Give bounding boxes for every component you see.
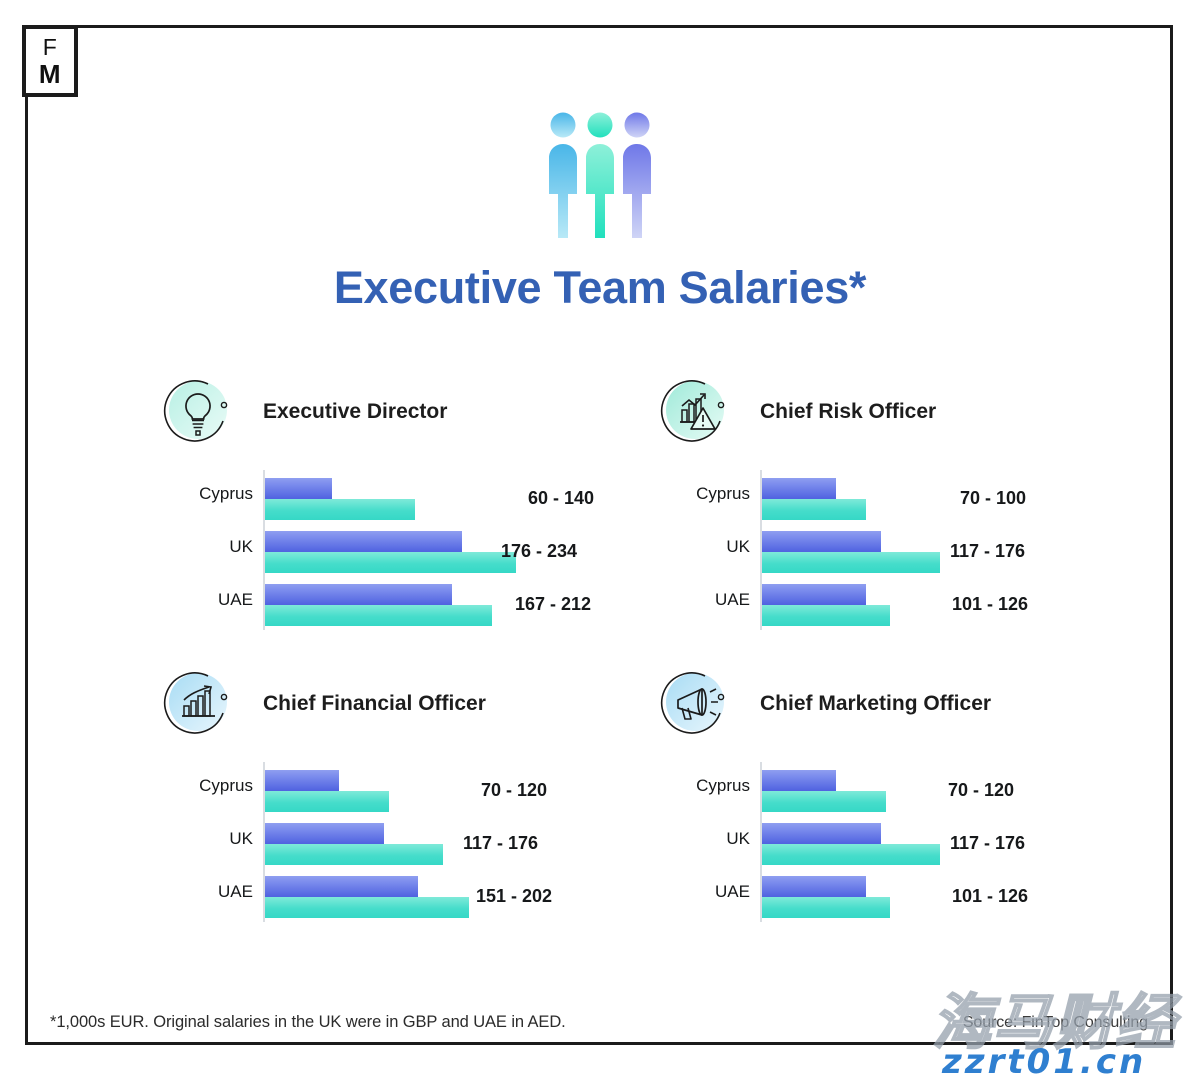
bar-chart: Cyprus 70 - 120 UK 117 - 176 UAE (660, 762, 1160, 922)
row-label-country: UAE (660, 882, 750, 902)
chart-row: UAE 151 - 202 (163, 876, 663, 920)
bar-minimum (762, 823, 881, 844)
row-value-range: 117 - 176 (463, 833, 538, 854)
panel-title: Chief Financial Officer (263, 692, 486, 716)
row-value-range: 70 - 120 (481, 780, 547, 801)
row-label-country: Cyprus (163, 484, 253, 504)
bar-chart: Cyprus 70 - 100 UK 117 - 176 UAE (660, 470, 1160, 630)
bar-minimum (265, 531, 462, 552)
panel-header: Chief Risk Officer (660, 370, 1160, 456)
panel-title: Executive Director (263, 400, 447, 424)
bar-maximum (265, 552, 516, 573)
page-title: Executive Team Salaries* (0, 262, 1200, 314)
chart-row: UK 117 - 176 (660, 531, 1160, 575)
bar-minimum (265, 478, 332, 499)
chart-row: UAE 101 - 126 (660, 876, 1160, 920)
bar-maximum (265, 791, 389, 812)
row-label-country: Cyprus (660, 484, 750, 504)
bar-minimum (762, 478, 836, 499)
logo-letter-f: F (43, 36, 58, 59)
row-label-country: UK (163, 537, 253, 557)
bar-minimum (265, 876, 418, 897)
row-value-range: 60 - 140 (528, 488, 594, 509)
row-value-range: 151 - 202 (476, 886, 552, 907)
row-value-range: 117 - 176 (950, 833, 1025, 854)
panel-title: Chief Risk Officer (760, 400, 936, 424)
row-value-range: 70 - 120 (948, 780, 1014, 801)
logo-letter-m: M (39, 61, 61, 87)
row-label-country: UAE (163, 590, 253, 610)
chart-row: Cyprus 60 - 140 (163, 478, 663, 522)
row-label-country: Cyprus (660, 776, 750, 796)
bar-chart: Cyprus 70 - 120 UK 117 - 176 UAE (163, 762, 663, 922)
chart-row: UK 117 - 176 (163, 823, 663, 867)
panel-chief-marketing-officer: Chief Marketing Officer Cyprus 70 - 120 … (660, 662, 1160, 922)
bar-chart: Cyprus 60 - 140 UK 176 - 234 UAE (163, 470, 663, 630)
row-label-country: UK (163, 829, 253, 849)
row-value-range: 117 - 176 (950, 541, 1025, 562)
row-value-range: 176 - 234 (501, 541, 577, 562)
bar-maximum (762, 552, 940, 573)
bar-minimum (762, 584, 866, 605)
row-label-country: UAE (163, 882, 253, 902)
lightbulb-icon (163, 374, 241, 452)
row-value-range: 70 - 100 (960, 488, 1026, 509)
row-value-range: 101 - 126 (952, 594, 1028, 615)
chart-row: Cyprus 70 - 120 (163, 770, 663, 814)
bar-maximum (762, 499, 866, 520)
bar-maximum (762, 791, 886, 812)
bar-minimum (265, 823, 384, 844)
risk-chart-icon (660, 374, 738, 452)
bar-minimum (762, 876, 866, 897)
panel-executive-director: Executive Director Cyprus 60 - 140 UK 17… (163, 370, 663, 630)
source-label: Source: FinTop Consulting (963, 1014, 1148, 1032)
chart-row: Cyprus 70 - 100 (660, 478, 1160, 522)
row-label-country: UK (660, 537, 750, 557)
bar-minimum (762, 770, 836, 791)
bar-maximum (762, 897, 890, 918)
bar-minimum (265, 770, 339, 791)
bar-maximum (265, 844, 443, 865)
chart-row: UK 117 - 176 (660, 823, 1160, 867)
bar-maximum (265, 499, 415, 520)
row-value-range: 167 - 212 (515, 594, 591, 615)
panel-header: Chief Marketing Officer (660, 662, 1160, 748)
panel-title: Chief Marketing Officer (760, 692, 991, 716)
chart-row: UK 176 - 234 (163, 531, 663, 575)
bar-maximum (265, 605, 492, 626)
row-label-country: UAE (660, 590, 750, 610)
bar-maximum (762, 605, 890, 626)
chart-row: UAE 167 - 212 (163, 584, 663, 628)
chart-row: UAE 101 - 126 (660, 584, 1160, 628)
panel-chief-financial-officer: Chief Financial Officer Cyprus 70 - 120 … (163, 662, 663, 922)
fm-logo: F M (22, 25, 78, 97)
row-label-country: UK (660, 829, 750, 849)
row-label-country: Cyprus (163, 776, 253, 796)
watermark-domain: zzrt01.cn (942, 1042, 1146, 1082)
panel-header: Executive Director (163, 370, 663, 456)
footnote: *1,000s EUR. Original salaries in the UK… (50, 1013, 566, 1032)
chart-row: Cyprus 70 - 120 (660, 770, 1160, 814)
bar-chart-growth-icon (163, 666, 241, 744)
three-people-icon (0, 112, 1200, 242)
panel-chief-risk-officer: Chief Risk Officer Cyprus 70 - 100 UK 11… (660, 370, 1160, 630)
bar-maximum (265, 897, 469, 918)
bar-minimum (265, 584, 452, 605)
panel-header: Chief Financial Officer (163, 662, 663, 748)
megaphone-icon (660, 666, 738, 744)
bar-maximum (762, 844, 940, 865)
bar-minimum (762, 531, 881, 552)
row-value-range: 101 - 126 (952, 886, 1028, 907)
